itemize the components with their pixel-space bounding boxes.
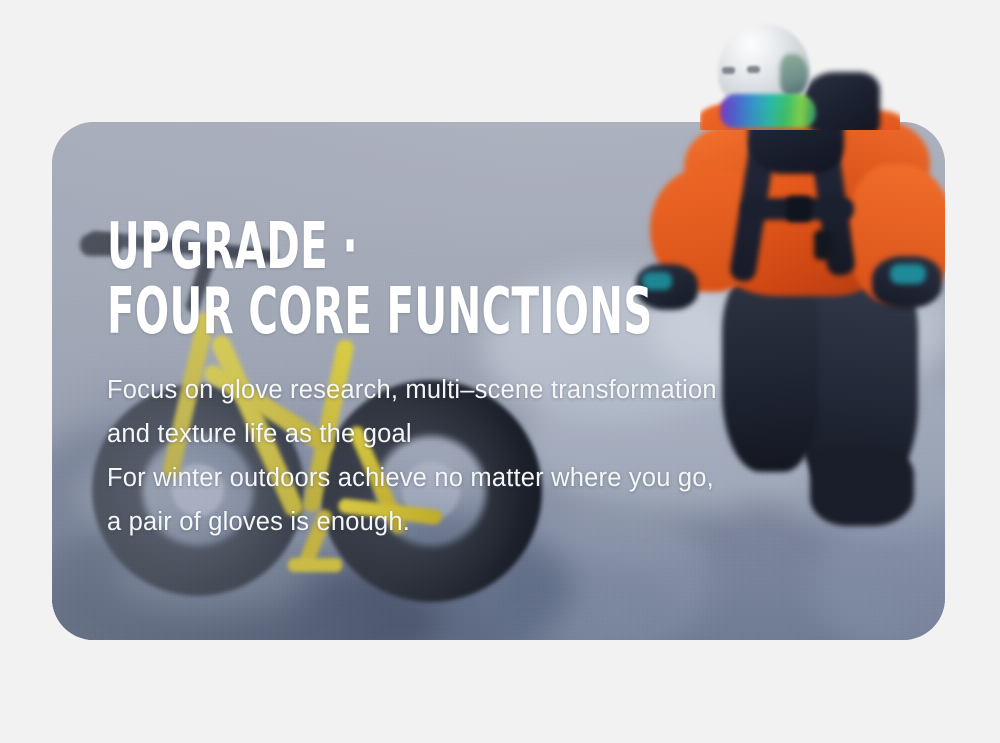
hero-card: UPGRADE · FOUR CORE FUNCTIONS Focus on g… xyxy=(52,122,945,640)
headline-line-1: UPGRADE · xyxy=(107,210,358,284)
neck-gaiter-top xyxy=(804,72,880,130)
body-line-2: and texture life as the goal xyxy=(107,412,727,456)
body-line-3: For winter outdoors achieve no matter wh… xyxy=(107,456,727,500)
helmet-side-panel xyxy=(780,54,808,96)
helmet-vent-right xyxy=(747,66,760,73)
headline: UPGRADE · FOUR CORE FUNCTIONS xyxy=(107,218,541,342)
pedal xyxy=(288,558,342,572)
body-copy: Focus on glove research, multi–scene tra… xyxy=(107,368,727,544)
body-line-1: Focus on glove research, multi–scene tra… xyxy=(107,368,727,412)
helmet-vent-left xyxy=(722,67,735,74)
body-line-4: a pair of gloves is enough. xyxy=(107,500,727,544)
headline-line-2: FOUR CORE FUNCTIONS xyxy=(107,283,541,342)
ski-goggles-icon xyxy=(720,94,816,128)
banner-stage: UPGRADE · FOUR CORE FUNCTIONS Focus on g… xyxy=(0,0,1000,743)
banner-copy: UPGRADE · FOUR CORE FUNCTIONS Focus on g… xyxy=(107,218,727,544)
rider-overflow-group xyxy=(700,18,900,130)
